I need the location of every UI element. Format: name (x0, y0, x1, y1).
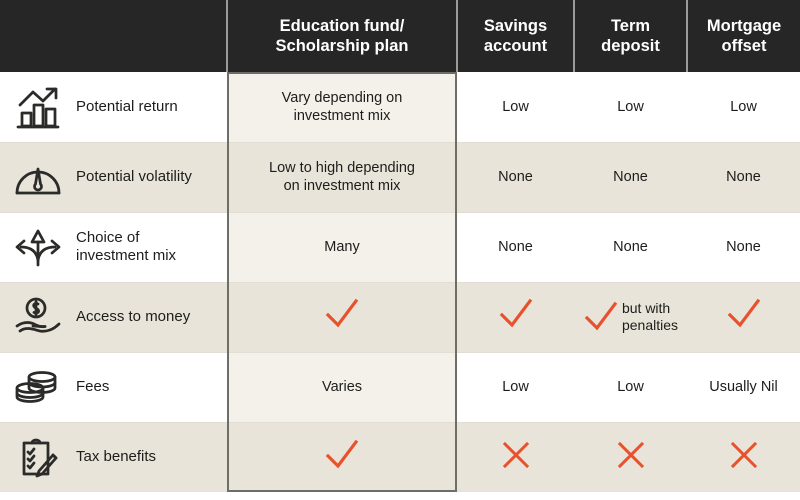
header-line-1: Mortgage (692, 16, 796, 36)
coins-stack-icon (10, 364, 66, 410)
header-line-1: Term (579, 16, 682, 36)
cell-line-1: Low (693, 98, 794, 116)
table-body: Potential return Vary depending on inves… (0, 72, 800, 492)
bar-chart-arrow-icon (10, 84, 66, 130)
cell-line-2: investment mix (233, 107, 451, 125)
cell-education-fund: Low to high depending on investment mix (227, 142, 457, 212)
cell-education-fund: Many (227, 212, 457, 282)
row-label-text: Potential return (76, 98, 178, 116)
cell-term-deposit: None (574, 142, 687, 212)
cell-line-1: None (580, 238, 681, 256)
check-icon (498, 297, 534, 331)
cell-savings-account (457, 422, 574, 492)
header-cell-mortgage-offset: Mortgage offset (687, 0, 800, 72)
row-label-text: Fees (76, 378, 109, 396)
row-label-text: Access to money (76, 308, 190, 326)
cell-mortgage-offset: Usually Nil (687, 352, 800, 422)
check-icon (726, 297, 762, 331)
branching-arrows-icon (10, 224, 66, 270)
cell-line-1: Low (580, 98, 681, 116)
header-cell-feature (0, 0, 227, 72)
cell-line-1: Many (233, 238, 451, 256)
cell-line-1: None (580, 168, 681, 186)
cell-education-fund (227, 422, 457, 492)
cell-term-deposit (574, 422, 687, 492)
header-line-2: account (462, 36, 569, 56)
table-row: Access to money (0, 282, 800, 352)
table-row: Fees Varies Low Low Usually Nil (0, 352, 800, 422)
gauge-icon (10, 154, 66, 200)
header-cell-education-fund: Education fund/ Scholarship plan (227, 0, 457, 72)
check-icon (324, 297, 360, 331)
cell-line-1: Low (463, 98, 568, 116)
row-label-cell: Fees (0, 352, 227, 422)
row-label-cell: Access to money (0, 282, 227, 352)
table-row: Potential return Vary depending on inves… (0, 72, 800, 142)
cell-savings-account: None (457, 212, 574, 282)
cell-line-1: Low to high depending (233, 159, 451, 177)
header-line-2: deposit (579, 36, 682, 56)
cell-term-deposit: Low (574, 352, 687, 422)
cell-mortgage-offset: None (687, 212, 800, 282)
cell-mortgage-offset: Low (687, 72, 800, 142)
cell-line-1: Varies (233, 378, 451, 396)
row-label-cell: Potential volatility (0, 142, 227, 212)
table-row: Potential volatility Low to high dependi… (0, 142, 800, 212)
cell-education-fund: Vary depending on investment mix (227, 72, 457, 142)
header-line-1: Savings (462, 16, 569, 36)
cell-note: but with penalties (622, 300, 678, 334)
comparison-table-container: Education fund/ Scholarship plan Savings… (0, 0, 800, 500)
header-line-2: Scholarship plan (232, 36, 452, 56)
table-row: Tax benefits (0, 422, 800, 492)
cell-education-fund: Varies (227, 352, 457, 422)
header-cell-term-deposit: Term deposit (574, 0, 687, 72)
cell-education-fund (227, 282, 457, 352)
table-header: Education fund/ Scholarship plan Savings… (0, 0, 800, 72)
cross-icon (616, 440, 646, 470)
cell-line-1: None (693, 238, 794, 256)
cell-line-1: None (693, 168, 794, 186)
cell-line-1: Low (463, 378, 568, 396)
check-icon (324, 438, 360, 472)
check-icon (583, 300, 619, 334)
hand-coin-icon (10, 294, 66, 340)
cell-line-1: Vary depending on (233, 89, 451, 107)
cell-term-deposit: but with penalties (574, 282, 687, 352)
cross-icon (729, 440, 759, 470)
cell-line-2: on investment mix (233, 177, 451, 195)
cell-line-1: Low (580, 378, 681, 396)
header-row: Education fund/ Scholarship plan Savings… (0, 0, 800, 72)
cell-term-deposit: Low (574, 72, 687, 142)
header-line-2: offset (692, 36, 796, 56)
cell-savings-account: Low (457, 72, 574, 142)
table-row: Choice of investment mix Many None None … (0, 212, 800, 282)
row-label-cell: Potential return (0, 72, 227, 142)
cell-term-deposit: None (574, 212, 687, 282)
cell-savings-account: Low (457, 352, 574, 422)
row-label-cell: Choice of investment mix (0, 212, 227, 282)
cell-savings-account (457, 282, 574, 352)
comparison-table: Education fund/ Scholarship plan Savings… (0, 0, 800, 492)
row-label-text: Choice of investment mix (76, 229, 176, 266)
cell-mortgage-offset (687, 422, 800, 492)
row-label-text: Tax benefits (76, 448, 156, 466)
header-cell-savings-account: Savings account (457, 0, 574, 72)
cell-mortgage-offset (687, 282, 800, 352)
row-label-cell: Tax benefits (0, 422, 227, 492)
cross-icon (501, 440, 531, 470)
row-label-text: Potential volatility (76, 168, 192, 186)
cell-savings-account: None (457, 142, 574, 212)
cell-line-1: None (463, 238, 568, 256)
cell-line-1: Usually Nil (693, 378, 794, 396)
cell-line-1: None (463, 168, 568, 186)
clipboard-pencil-icon (10, 434, 66, 480)
header-line-1: Education fund/ (232, 16, 452, 36)
cell-mortgage-offset: None (687, 142, 800, 212)
